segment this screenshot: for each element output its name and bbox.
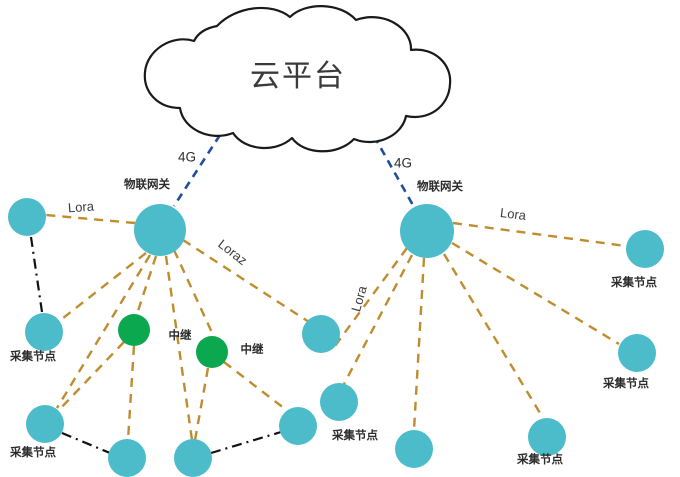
relay-node[interactable] [118, 314, 150, 346]
mesh-link [211, 432, 281, 453]
sensor-node[interactable] [320, 383, 358, 421]
sensor-node[interactable] [26, 405, 64, 443]
cloud-group[interactable]: 云平台 [145, 6, 450, 151]
sensor-node[interactable] [279, 407, 317, 445]
sensor-node[interactable] [25, 313, 63, 351]
lora-link [332, 248, 407, 350]
sensor-node[interactable] [626, 230, 664, 268]
lora-link [453, 223, 626, 246]
sensor-node-label: 采集节点 [610, 275, 657, 289]
sensor-node-label: 采集节点 [516, 452, 563, 466]
network-topology-diagram: 云平台 物联网关物联网关采集节点采集节点中继中继采集节点采集节点采集节点采集节点… [0, 0, 680, 477]
relay-node-label: 中继 [169, 328, 192, 342]
lora-link-label: Lora [499, 205, 527, 223]
lora-link [452, 243, 619, 344]
lora-link-label: Loraz [215, 236, 250, 268]
gateway-node[interactable] [400, 204, 454, 258]
sensor-node[interactable] [8, 198, 46, 236]
sensor-node[interactable] [302, 315, 340, 353]
sensor-node[interactable] [395, 430, 433, 468]
lora-link [128, 346, 134, 440]
lora-link [46, 215, 135, 223]
lora-link [414, 258, 424, 430]
sensor-node[interactable] [174, 439, 212, 477]
lora-link-label: Lora [348, 283, 370, 313]
sensor-node-label: 采集节点 [9, 349, 56, 363]
lora-link-label: Lora [67, 198, 95, 215]
lora-link [174, 250, 214, 337]
relay-node[interactable] [196, 336, 228, 368]
sensor-node-label: 采集节点 [9, 445, 56, 459]
mesh-link [62, 433, 110, 453]
sensor-node[interactable] [618, 334, 656, 372]
lora-link [444, 254, 543, 418]
lora-link [195, 368, 208, 440]
relay-node-label: 中继 [241, 342, 264, 356]
sensor-node-label: 采集节点 [602, 376, 649, 390]
sensor-node-label: 采集节点 [331, 428, 378, 442]
gateway-node-label: 物联网关 [417, 179, 463, 193]
lora-link [166, 256, 192, 440]
cellular-link-label: 4G [394, 156, 412, 171]
sensor-node[interactable] [528, 418, 566, 456]
cellular-4g-link [374, 136, 414, 207]
lora-link [224, 362, 289, 412]
lora-link [58, 253, 146, 322]
mesh-link [31, 237, 42, 312]
sensor-node[interactable] [108, 439, 146, 477]
gateway-node[interactable] [134, 204, 186, 256]
cloud-platform-label: 云平台 [250, 60, 346, 93]
topology-canvas: 云平台 物联网关物联网关采集节点采集节点中继中继采集节点采集节点采集节点采集节点… [0, 0, 680, 477]
lora-link [137, 256, 156, 314]
gateway-node-label: 物联网关 [124, 177, 170, 191]
cellular-4g-link [174, 135, 220, 206]
cellular-link-label: 4G [178, 150, 196, 165]
